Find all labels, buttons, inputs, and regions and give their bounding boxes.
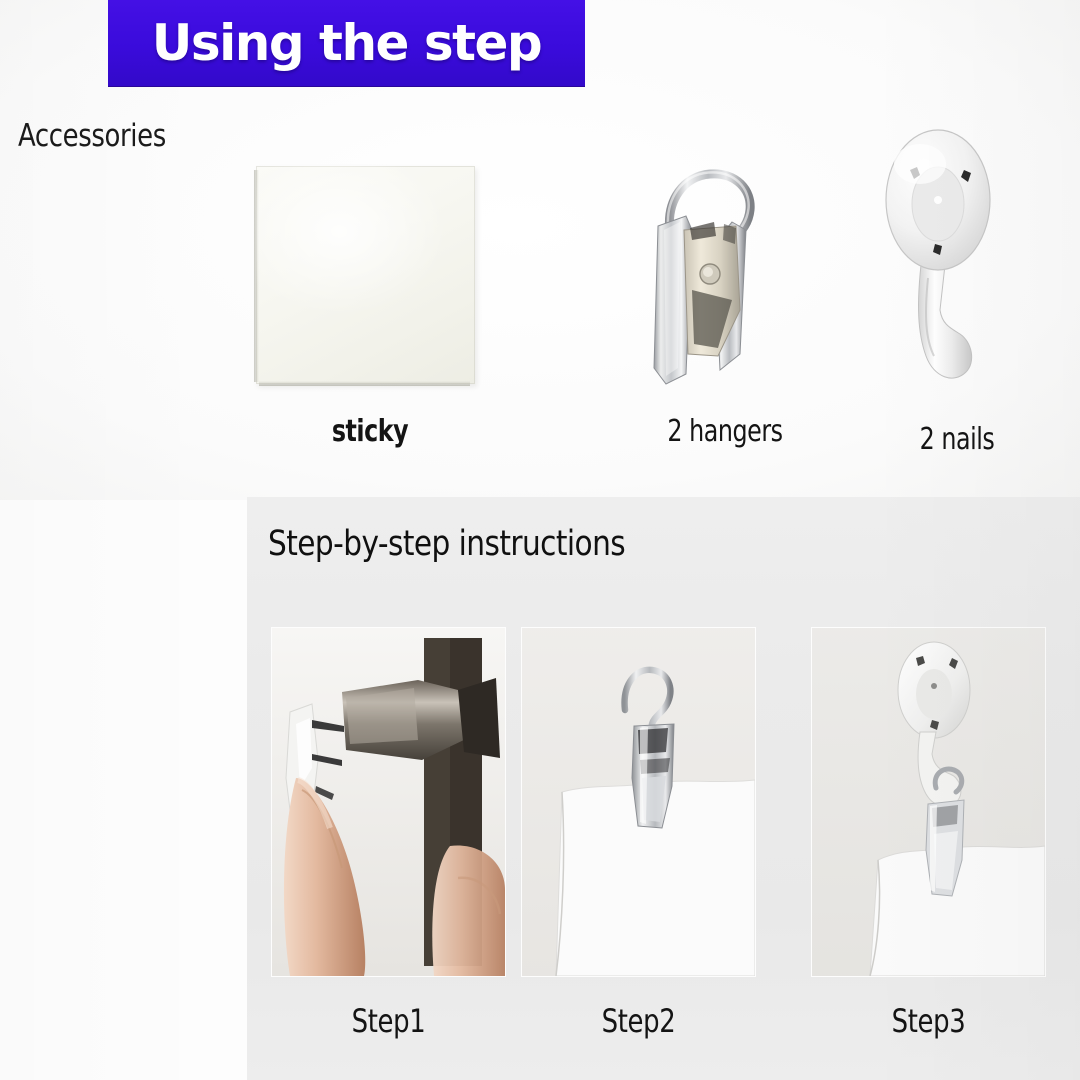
- step-photo-2: [522, 628, 755, 976]
- accessory-label-hangers: 2 hangers: [633, 414, 818, 449]
- clip-body-graphic: [640, 104, 800, 394]
- adhesive-square-icon: [256, 166, 475, 384]
- step-photo-3: [812, 628, 1045, 976]
- product-instruction-infographic: Using the step Accessories: [0, 0, 1080, 1080]
- white-wall-hook-icon: [880, 128, 1030, 390]
- step-label-2: Step2: [534, 1002, 744, 1040]
- sticky-pad-sheen: [256, 166, 475, 384]
- title-banner: Using the step: [108, 0, 585, 86]
- step-label-1: Step1: [284, 1002, 494, 1040]
- step-photo-1: [272, 628, 505, 976]
- wall-hook-graphic: [880, 128, 1030, 390]
- instructions-heading: Step-by-step instructions: [268, 524, 625, 564]
- accessory-label-sticky: sticky: [286, 414, 453, 449]
- metal-clip-hook-icon: [640, 104, 800, 394]
- mounted-hook-with-clip-illustration: [812, 628, 1045, 976]
- accessories-heading: Accessories: [18, 118, 166, 154]
- page-title: Using the step: [108, 4, 585, 82]
- step-label-3: Step3: [824, 1002, 1034, 1040]
- clip-holding-sheet-illustration: [522, 628, 755, 976]
- hand-hammer-nail-illustration: [272, 628, 505, 976]
- accessory-label-nails: 2 nails: [873, 422, 1040, 457]
